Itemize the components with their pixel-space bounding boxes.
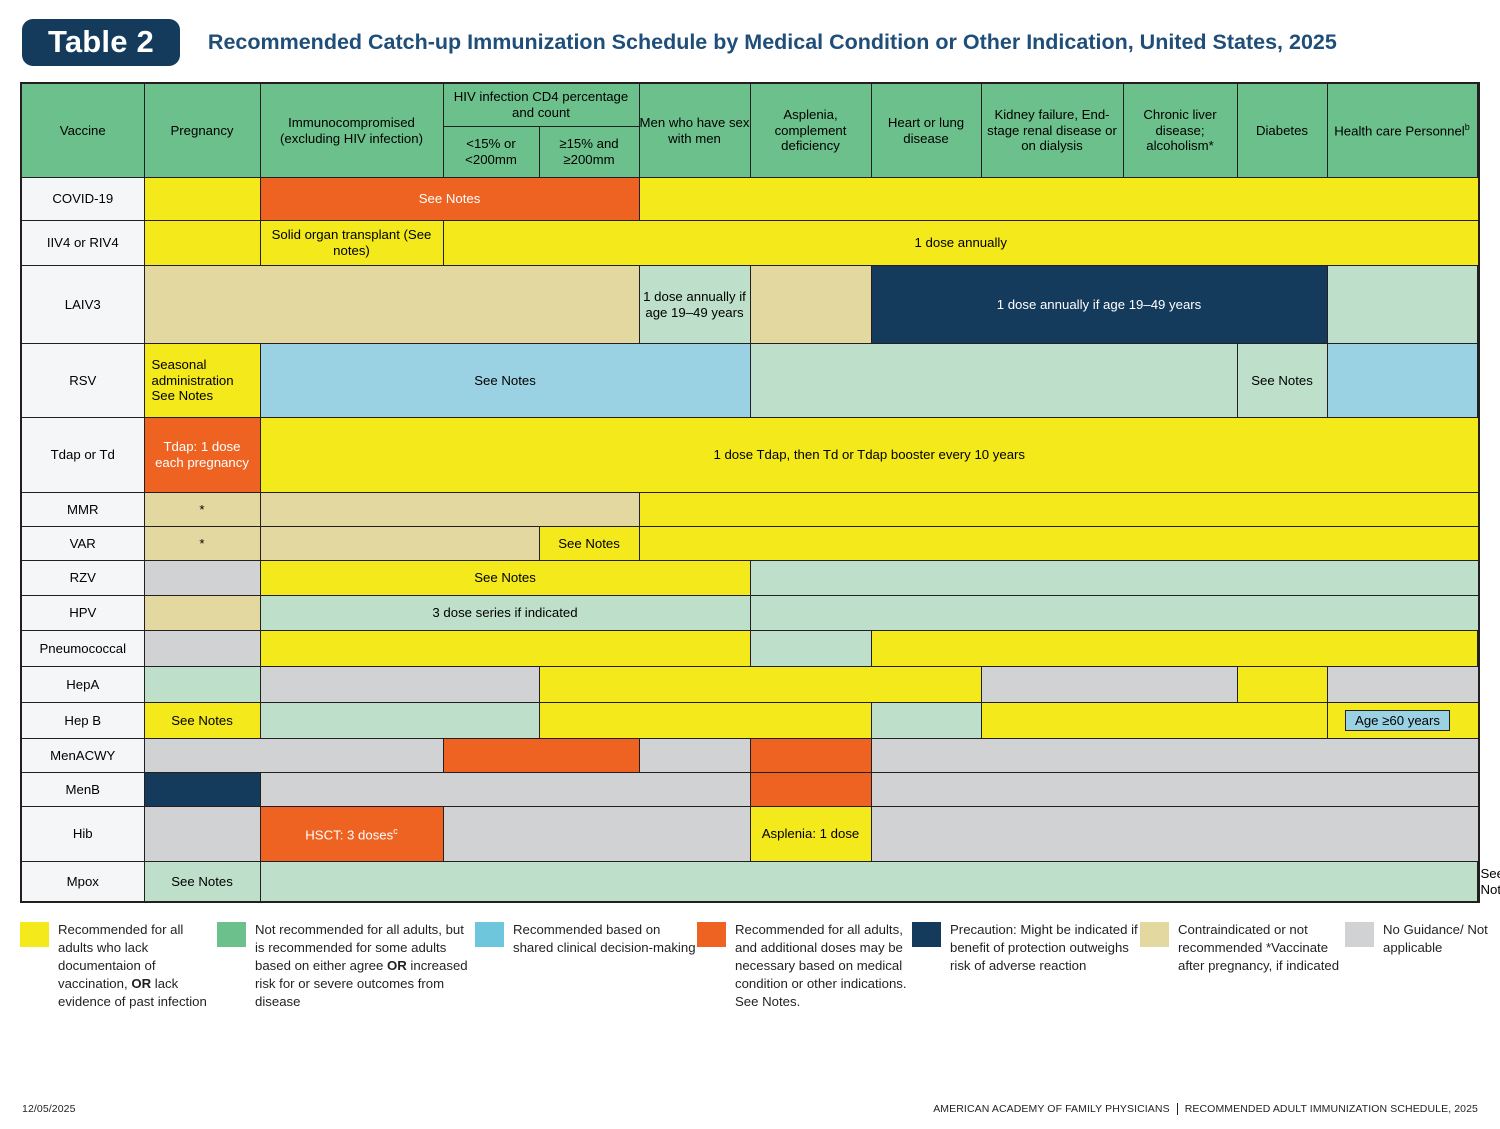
schedule-cell: See Notes [260, 344, 750, 418]
schedule-cell [1477, 631, 1479, 667]
legend-swatch [1140, 922, 1169, 947]
col-header-msm: Men who have sex with men [639, 83, 750, 178]
col-header-health-care-personnel: Health care Personnelb [1327, 83, 1477, 178]
schedule-cell [1477, 344, 1479, 418]
vaccine-name-cell: IIV4 or RIV4 [21, 221, 144, 266]
schedule-cell [639, 527, 1479, 561]
table-row: HibHSCT: 3 dosescAsplenia: 1 dose [21, 807, 1479, 862]
hcp-label: Health care Personnel [1334, 123, 1464, 138]
schedule-cell: 1 dose annually if age 19–49 years [639, 266, 750, 344]
table-row: Hep BSee NotesAge ≥60 years [21, 703, 1479, 739]
footer-divider [1177, 1103, 1178, 1115]
schedule-cell [539, 703, 871, 739]
schedule-cell: Solid organ transplant (See notes) [260, 221, 443, 266]
table-row: MMR* [21, 493, 1479, 527]
schedule-cell [260, 703, 539, 739]
table-row: HPV3 dose series if indicated [21, 596, 1479, 631]
legend-item: Recommended for all adults who lack docu… [20, 921, 217, 1011]
vaccine-name-cell: Tdap or Td [21, 418, 144, 493]
schedule-cell [144, 773, 260, 807]
table-row: RZVSee Notes [21, 561, 1479, 596]
cell-label: * [145, 498, 260, 522]
table-row: COVID-19See Notes [21, 178, 1479, 221]
vaccine-name-cell: LAIV3 [21, 266, 144, 344]
col-header-diabetes: Diabetes [1237, 83, 1327, 178]
page-header: Table 2 Recommended Catch-up Immunizatio… [0, 0, 1500, 70]
schedule-cell [871, 703, 981, 739]
header-row-1: Vaccine Pregnancy Immunocompromised (exc… [21, 83, 1479, 127]
table-row: RSVSeasonal administration See NotesSee … [21, 344, 1479, 418]
schedule-cell [871, 773, 1479, 807]
legend-item: Contraindicated or not recommended *Vacc… [1140, 921, 1345, 1011]
table-row: IIV4 or RIV4Solid organ transplant (See … [21, 221, 1479, 266]
cell-label: Tdap: 1 dose each pregnancy [145, 435, 260, 474]
legend-swatch [217, 922, 246, 947]
schedule-cell [144, 266, 639, 344]
schedule-cell [639, 178, 1479, 221]
col-header-immunocompromised: Immunocompromised (excluding HIV infecti… [260, 83, 443, 178]
schedule-cell [144, 631, 260, 667]
cell-label: See Notes [145, 709, 260, 733]
schedule-cell [750, 739, 871, 773]
vaccine-name-cell: Pneumococcal [21, 631, 144, 667]
legend-swatch [697, 922, 726, 947]
table-row: VAR*See Notes [21, 527, 1479, 561]
table-row: MenB [21, 773, 1479, 807]
schedule-cell [639, 493, 1479, 527]
schedule-cell [260, 493, 639, 527]
schedule-cell: HSCT: 3 dosesc [260, 807, 443, 862]
col-header-vaccine: Vaccine [21, 83, 144, 178]
schedule-cell [144, 739, 443, 773]
schedule-cell [750, 266, 871, 344]
col-header-heart-lung: Heart or lung disease [871, 83, 981, 178]
col-header-kidney: Kidney failure, End-stage renal disease … [981, 83, 1123, 178]
cell-label: 3 dose series if indicated [261, 601, 750, 625]
cell-label: 1 dose annually [444, 231, 1479, 255]
schedule-cell: 1 dose Tdap, then Td or Tdap booster eve… [260, 418, 1479, 493]
legend-item: No Guidance/ Not applicable [1345, 921, 1495, 1011]
hcp-footnote-marker: b [1465, 122, 1470, 132]
schedule-cell [1327, 667, 1479, 703]
footer-date: 12/05/2025 [22, 1103, 76, 1115]
schedule-cell [539, 667, 981, 703]
schedule-cell [260, 527, 539, 561]
schedule-cell: See Notes [144, 862, 260, 903]
schedule-cell [443, 807, 750, 862]
schedule-cell: Tdap: 1 dose each pregnancy [144, 418, 260, 493]
schedule-cell [981, 703, 1327, 739]
table-body: COVID-19See NotesIIV4 or RIV4Solid organ… [21, 178, 1479, 903]
schedule-cell [639, 739, 750, 773]
col-header-hiv-group: HIV infection CD4 percentage and count [443, 83, 639, 127]
vaccine-name-cell: MenB [21, 773, 144, 807]
schedule-cell: See Notes [260, 561, 750, 596]
vaccine-name-cell: HPV [21, 596, 144, 631]
vaccine-name-cell: Hep B [21, 703, 144, 739]
table-row: Pneumococcal [21, 631, 1479, 667]
cell-label: Seasonal administration See Notes [145, 353, 260, 408]
schedule-cell [260, 631, 750, 667]
vaccine-name-cell: RSV [21, 344, 144, 418]
col-header-pregnancy: Pregnancy [144, 83, 260, 178]
schedule-cell: Age ≥60 years [1327, 703, 1479, 739]
table-head: Vaccine Pregnancy Immunocompromised (exc… [21, 83, 1479, 178]
legend-swatch [475, 922, 504, 947]
vaccine-name-cell: COVID-19 [21, 178, 144, 221]
cell-label: Solid organ transplant (See notes) [261, 223, 443, 262]
cell-label: See Notes [540, 532, 639, 556]
cell-label: HSCT: 3 dosesc [261, 822, 443, 847]
col-header-hiv-low: <15% or <200mm [443, 127, 539, 178]
schedule-cell: See Notes [260, 178, 639, 221]
schedule-cell [750, 344, 1237, 418]
legend-label: Recommended for all adults, and addition… [735, 921, 912, 1011]
legend-swatch [912, 922, 941, 947]
schedule-cell: 1 dose annually if age 19–49 years [871, 266, 1327, 344]
schedule-cell [871, 631, 1477, 667]
schedule-cell [1237, 667, 1327, 703]
col-header-liver: Chronic liver disease; alcoholism* [1123, 83, 1237, 178]
schedule-cell: * [144, 493, 260, 527]
schedule-cell [144, 178, 260, 221]
schedule-cell [144, 221, 260, 266]
footnote-marker: c [393, 826, 398, 836]
schedule-cell [1327, 344, 1477, 418]
schedule-cell [260, 773, 750, 807]
schedule-cell [144, 807, 260, 862]
vaccine-name-cell: VAR [21, 527, 144, 561]
legend-swatch [1345, 922, 1374, 947]
age-badge: Age ≥60 years [1345, 710, 1450, 732]
schedule-cell [750, 631, 871, 667]
cell-label: 1 dose annually if age 19–49 years [640, 285, 750, 324]
schedule-cell [144, 596, 260, 631]
table-row: Tdap or TdTdap: 1 dose each pregnancy1 d… [21, 418, 1479, 493]
table-row: MpoxSee NotesSee Notes [21, 862, 1479, 903]
schedule-cell [144, 561, 260, 596]
schedule-cell [871, 807, 1479, 862]
legend-swatch [20, 922, 49, 947]
schedule-cell [981, 667, 1237, 703]
legend-item: Recommended based on shared clinical dec… [475, 921, 697, 1011]
page-footer: 12/05/2025 AMERICAN ACADEMY OF FAMILY PH… [0, 1103, 1500, 1115]
legend-label: No Guidance/ Not applicable [1383, 921, 1495, 957]
table-row: MenACWY [21, 739, 1479, 773]
schedule-cell [1327, 266, 1477, 344]
vaccine-name-cell: Mpox [21, 862, 144, 903]
col-header-hiv-high: ≥15% and ≥200mm [539, 127, 639, 178]
table-row: HepA [21, 667, 1479, 703]
schedule-cell [144, 667, 260, 703]
page-title: Recommended Catch-up Immunization Schedu… [208, 30, 1337, 55]
cell-label: See Notes [261, 187, 639, 211]
schedule-cell: See Notes [539, 527, 639, 561]
footer-organization: AMERICAN ACADEMY OF FAMILY PHYSICIANS [933, 1103, 1170, 1115]
legend-item: Not recommended for all adults, but is r… [217, 921, 475, 1011]
col-header-asplenia: Asplenia, complement deficiency [750, 83, 871, 178]
schedule-cell: Asplenia: 1 dose [750, 807, 871, 862]
cell-label: Asplenia: 1 dose [751, 822, 871, 846]
legend-label: Not recommended for all adults, but is r… [255, 921, 475, 1011]
schedule-cell [750, 596, 1479, 631]
cell-label: See Notes [261, 566, 750, 590]
legend: Recommended for all adults who lack docu… [0, 903, 1500, 1011]
legend-item: Recommended for all adults, and addition… [697, 921, 912, 1011]
legend-label: Recommended for all adults who lack docu… [58, 921, 217, 1011]
cell-label: * [145, 532, 260, 556]
legend-item: Precaution: Might be indicated if benefi… [912, 921, 1140, 1011]
table-number-badge: Table 2 [22, 19, 180, 66]
schedule-cell: See Notes [1237, 344, 1327, 418]
vaccine-name-cell: Hib [21, 807, 144, 862]
schedule-cell [750, 773, 871, 807]
schedule-cell: * [144, 527, 260, 561]
schedule-cell [871, 739, 1479, 773]
footer-document-title: RECOMMENDED ADULT IMMUNIZATION SCHEDULE,… [1185, 1103, 1478, 1115]
cell-label: 1 dose Tdap, then Td or Tdap booster eve… [261, 443, 1479, 467]
immunization-schedule-table: Vaccine Pregnancy Immunocompromised (exc… [20, 82, 1480, 903]
legend-label: Contraindicated or not recommended *Vacc… [1178, 921, 1345, 975]
vaccine-name-cell: RZV [21, 561, 144, 596]
schedule-cell: 1 dose annually [443, 221, 1479, 266]
schedule-cell [260, 667, 539, 703]
vaccine-name-cell: MenACWY [21, 739, 144, 773]
schedule-cell [750, 561, 1479, 596]
table-row: LAIV31 dose annually if age 19–49 years1… [21, 266, 1479, 344]
schedule-cell: See Notes [1477, 862, 1479, 903]
cell-label: See Notes [261, 369, 750, 393]
cell-label: See Notes [1478, 862, 1484, 901]
vaccine-name-cell: HepA [21, 667, 144, 703]
cell-label: See Notes [145, 870, 260, 894]
vaccine-name-cell: MMR [21, 493, 144, 527]
schedule-cell: See Notes [144, 703, 260, 739]
cell-label: See Notes [1238, 369, 1327, 393]
schedule-cell: 3 dose series if indicated [260, 596, 750, 631]
legend-label: Precaution: Might be indicated if benefi… [950, 921, 1140, 975]
schedule-table-wrap: Vaccine Pregnancy Immunocompromised (exc… [0, 70, 1500, 903]
cell-label: 1 dose annually if age 19–49 years [872, 293, 1327, 317]
schedule-cell [260, 862, 1477, 903]
legend-label: Recommended based on shared clinical dec… [513, 921, 697, 957]
schedule-cell [443, 739, 639, 773]
schedule-cell: Seasonal administration See Notes [144, 344, 260, 418]
